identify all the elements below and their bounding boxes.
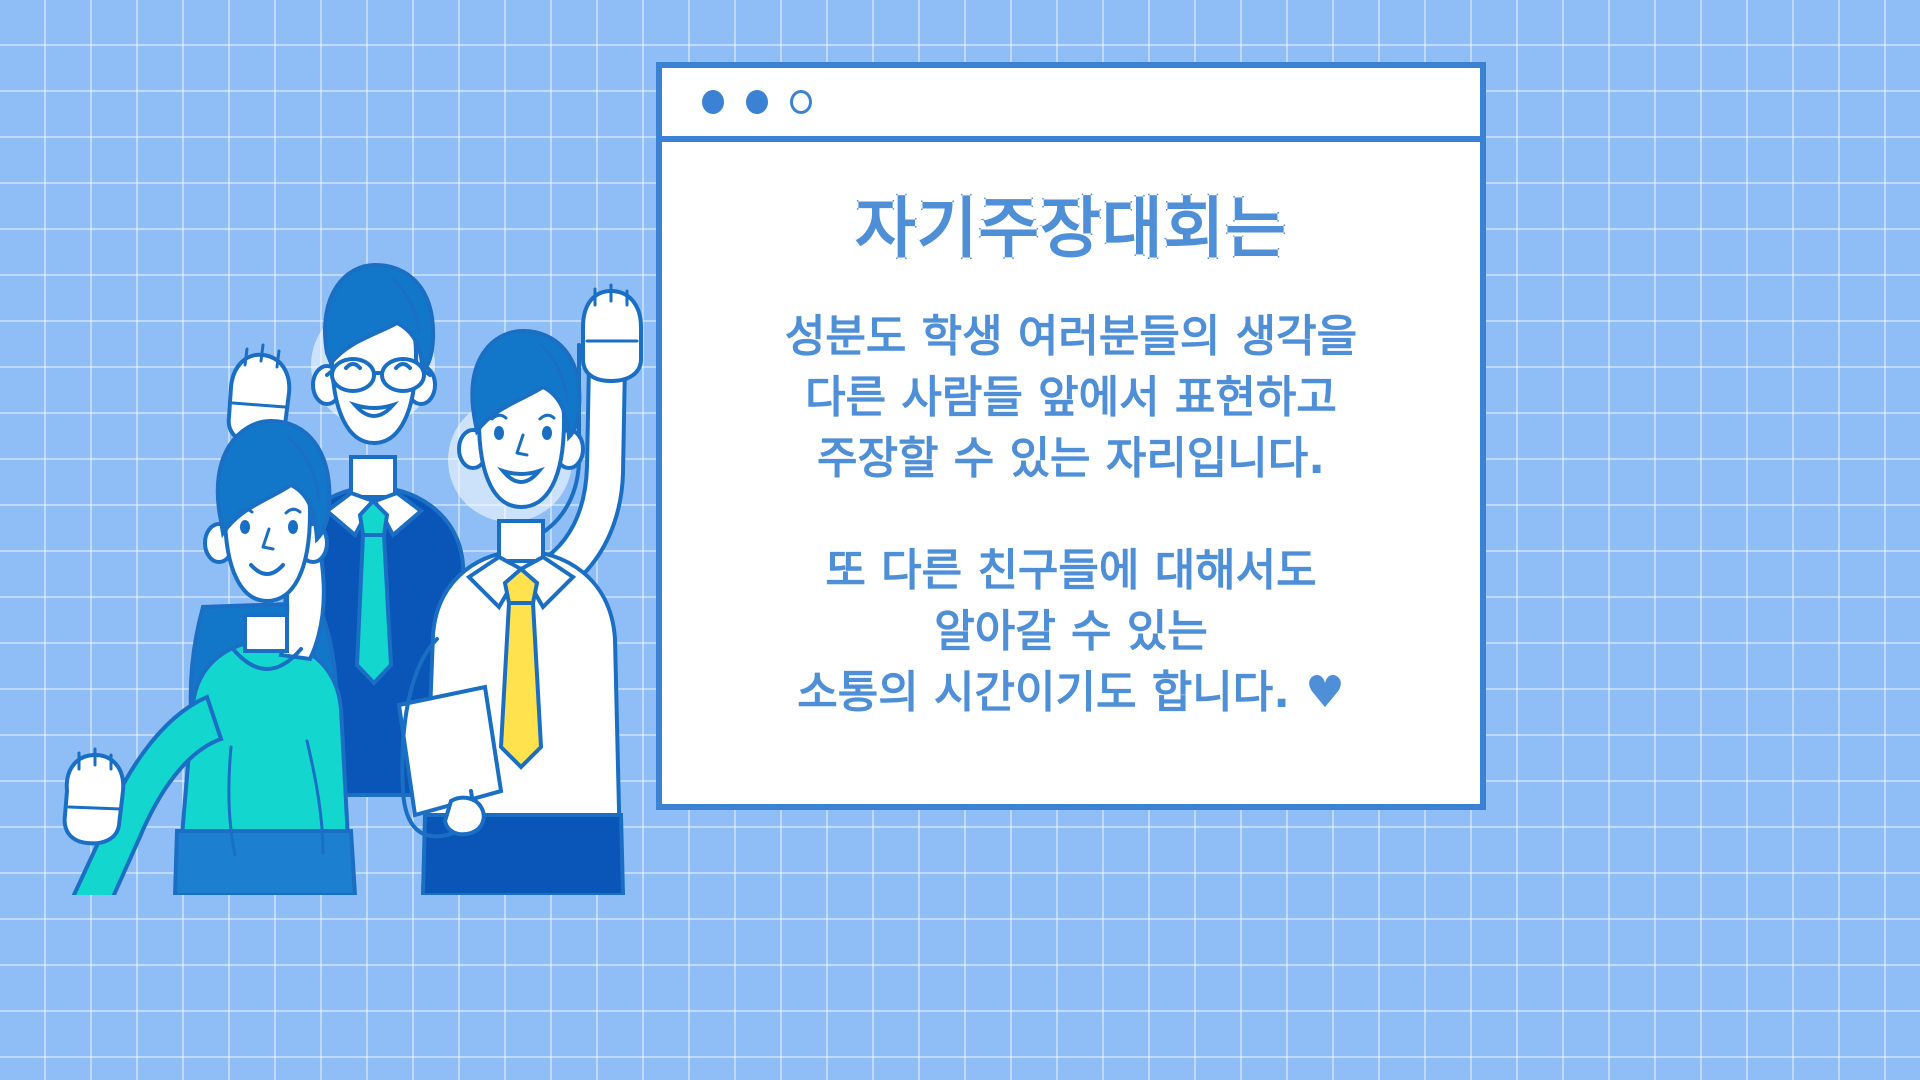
poster-canvas: .ln { fill:none; stroke:#1a6fc4; stroke-…	[0, 0, 1920, 1080]
figure-woman-left	[65, 345, 355, 895]
description-paragraph-two: 또 다른 친구들에 대해서도 알아갈 수 있는 소통의 시간이기도 합니다. ♥	[797, 541, 1344, 723]
description-paragraph-one: 성분도 학생 여러분들의 생각을 다른 사람들 앞에서 표현하고 주장할 수 있…	[785, 307, 1357, 489]
page-title: 자기주장대회는	[855, 194, 1287, 263]
window-content: 자기주장대회는 성분도 학생 여러분들의 생각을 다른 사람들 앞에서 표현하고…	[662, 142, 1480, 804]
window-dot-two-icon[interactable]	[746, 90, 768, 114]
window-dot-three-icon[interactable]	[790, 90, 812, 114]
three-students-cheering-illustration: .ln { fill:none; stroke:#1a6fc4; stroke-…	[55, 235, 655, 895]
window-dot-one-icon[interactable]	[702, 90, 724, 114]
window-titlebar	[662, 68, 1480, 142]
browser-window-card: 자기주장대회는 성분도 학생 여러분들의 생각을 다른 사람들 앞에서 표현하고…	[656, 62, 1486, 810]
